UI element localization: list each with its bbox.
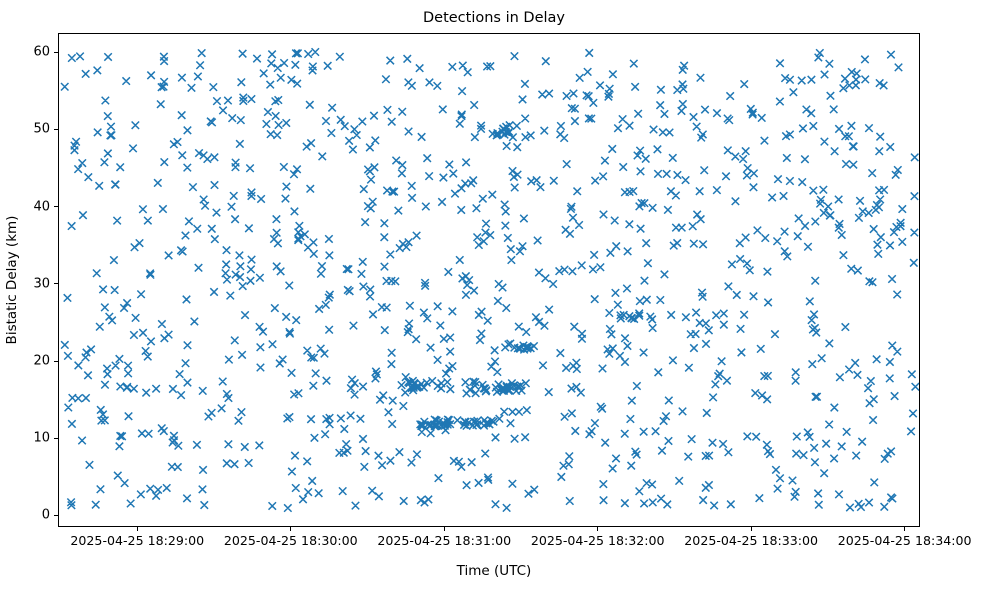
y-tick-mark [54,206,58,207]
x-tick-mark [597,527,598,531]
y-tick-label: 20 [10,354,50,369]
y-tick-label: 0 [10,508,50,523]
y-tick-label: 50 [10,122,50,137]
x-tick-label: 2025-04-25 18:31:00 [377,533,511,548]
x-tick-label: 2025-04-25 18:33:00 [684,533,818,548]
x-tick-label: 2025-04-25 18:34:00 [838,533,972,548]
matplotlib-figure: Detections in Delay 0102030405060 2025-0… [0,0,988,590]
y-tick-mark [54,515,58,516]
x-tick-mark [444,527,445,531]
y-axis-label-wrapper: Bistatic Delay (km) [18,33,19,527]
x-tick-label: 2025-04-25 18:30:00 [224,533,358,548]
y-tick-label: 10 [10,431,50,446]
x-tick-label: 2025-04-25 18:32:00 [531,533,665,548]
y-tick-label: 60 [10,45,50,60]
x-tick-mark [904,527,905,531]
y-tick-mark [54,361,58,362]
x-tick-mark [290,527,291,531]
y-axis-ticks: 0102030405060 [0,0,988,590]
y-tick-label: 40 [10,199,50,214]
x-tick-label: 2025-04-25 18:29:00 [70,533,204,548]
x-tick-mark [751,527,752,531]
y-tick-mark [54,52,58,53]
y-tick-mark [54,283,58,284]
x-axis-label: Time (UTC) [0,563,988,579]
y-tick-mark [54,129,58,130]
x-axis-ticks: 2025-04-25 18:29:002025-04-25 18:30:0020… [0,527,988,567]
x-tick-mark [137,527,138,531]
y-tick-mark [54,438,58,439]
y-axis-label: Bistatic Delay (km) [4,216,20,345]
